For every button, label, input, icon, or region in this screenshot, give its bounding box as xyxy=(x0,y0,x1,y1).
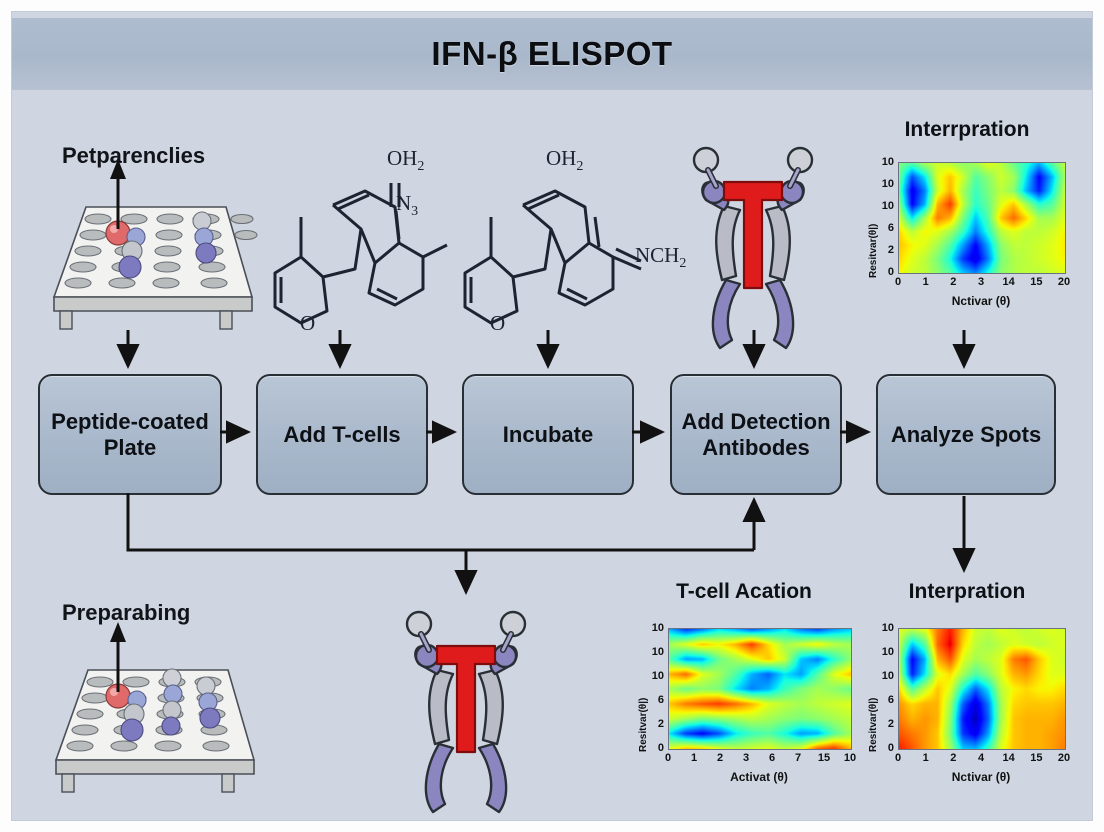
process-box-add-detection-antibodes[interactable]: Add Detection Antibodes xyxy=(670,374,842,495)
y-tick-label: 10 xyxy=(864,156,894,168)
diagram-canvas: IFN-β ELISPOT Petparenclies xyxy=(0,0,1104,832)
x-tick-label: 6 xyxy=(769,752,775,764)
title-banner: IFN-β ELISPOT xyxy=(12,18,1092,90)
y-tick-label: 2 xyxy=(864,244,894,256)
heatmap-x-ticks: 0124141520 xyxy=(898,752,1064,768)
heatmap-title: Interrpration xyxy=(860,118,1074,142)
x-tick-label: 20 xyxy=(1058,276,1070,288)
x-tick-label: 0 xyxy=(665,752,671,764)
process-box-label: Peptide-coated Plate xyxy=(40,409,220,460)
y-tick-label: 0 xyxy=(864,266,894,278)
x-tick-label: 3 xyxy=(743,752,749,764)
plate-top-label: Petparenclies xyxy=(62,143,205,169)
heatmap-y-ticks: 101010620 xyxy=(860,628,894,748)
x-tick-label: 15 xyxy=(818,752,830,764)
process-box-label: Add Detection Antibodes xyxy=(672,409,840,460)
x-tick-label: 0 xyxy=(895,752,901,764)
process-box-add-t-cells[interactable]: Add T-cells xyxy=(256,374,428,495)
heatmap-canvas xyxy=(899,163,1065,273)
heatmap-x-axis-label: Activat (θ) xyxy=(668,770,850,784)
x-tick-label: 15 xyxy=(1030,752,1042,764)
y-tick-label: 6 xyxy=(864,222,894,234)
process-box-analyze-spots[interactable]: Analyze Spots xyxy=(876,374,1056,495)
heatmap-tcell-acation: T-cell Acation Resitvar(θ|) 101010620 01… xyxy=(630,580,858,795)
x-tick-label: 15 xyxy=(1030,276,1042,288)
process-box-peptide-coated-plate[interactable]: Peptide-coated Plate xyxy=(38,374,222,495)
heatmap-y-ticks: 101010620 xyxy=(860,162,894,272)
heatmap-y-ticks: 101010620 xyxy=(630,628,664,748)
process-box-label: Add T-cells xyxy=(283,422,400,447)
x-tick-label: 4 xyxy=(978,752,984,764)
heatmap-x-ticks: 0123141520 xyxy=(898,276,1064,292)
y-tick-label: 10 xyxy=(864,200,894,212)
y-tick-label: 10 xyxy=(634,646,664,658)
y-tick-label: 0 xyxy=(864,742,894,754)
x-tick-label: 20 xyxy=(1058,752,1070,764)
heatmap-title: T-cell Acation xyxy=(630,580,858,604)
y-tick-label: 10 xyxy=(634,670,664,682)
x-tick-label: 2 xyxy=(950,752,956,764)
x-tick-label: 3 xyxy=(978,276,984,288)
process-box-label: Incubate xyxy=(503,422,593,447)
x-tick-label: 2 xyxy=(717,752,723,764)
y-tick-label: 2 xyxy=(864,718,894,730)
x-tick-label: 7 xyxy=(795,752,801,764)
heatmap-interrpration-top: Interrpration Resitvar(θ|) 101010620 012… xyxy=(860,118,1074,328)
y-tick-label: 10 xyxy=(864,178,894,190)
x-tick-label: 14 xyxy=(1003,752,1015,764)
y-tick-label: 10 xyxy=(634,622,664,634)
plate-bottom-label: Preparabing xyxy=(62,600,190,626)
process-box-incubate[interactable]: Incubate xyxy=(462,374,634,495)
heatmap-canvas xyxy=(669,629,851,749)
process-box-label: Analyze Spots xyxy=(891,422,1041,447)
y-tick-label: 10 xyxy=(864,646,894,658)
y-tick-label: 10 xyxy=(864,670,894,682)
heatmap-x-ticks: 0123671510 xyxy=(668,752,850,768)
x-tick-label: 1 xyxy=(691,752,697,764)
y-tick-label: 10 xyxy=(864,622,894,634)
y-tick-label: 0 xyxy=(634,742,664,754)
heatmap-plot-area xyxy=(668,628,852,750)
x-tick-label: 10 xyxy=(844,752,856,764)
x-tick-label: 2 xyxy=(950,276,956,288)
heatmap-x-axis-label: Nctivar (θ) xyxy=(898,770,1064,784)
x-tick-label: 0 xyxy=(895,276,901,288)
x-tick-label: 14 xyxy=(1003,276,1015,288)
y-tick-label: 6 xyxy=(634,694,664,706)
heatmap-interpration-bottom: Interpration Resitvar(θ|) 101010620 0124… xyxy=(860,580,1074,795)
x-tick-label: 1 xyxy=(923,752,929,764)
heatmap-title: Interpration xyxy=(860,580,1074,604)
y-tick-label: 2 xyxy=(634,718,664,730)
heatmap-plot-area xyxy=(898,628,1066,750)
heatmap-plot-area xyxy=(898,162,1066,274)
heatmap-x-axis-label: Nctivar (θ) xyxy=(898,294,1064,308)
y-tick-label: 6 xyxy=(864,694,894,706)
heatmap-canvas xyxy=(899,629,1065,749)
page-title: IFN-β ELISPOT xyxy=(12,18,1092,90)
x-tick-label: 1 xyxy=(923,276,929,288)
